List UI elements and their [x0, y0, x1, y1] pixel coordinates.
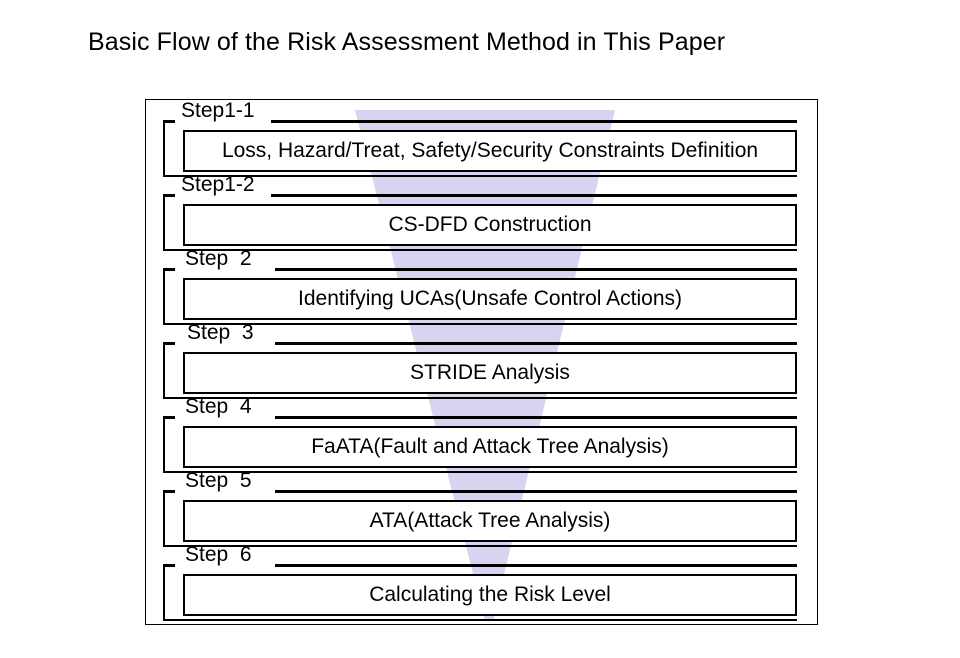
step-content-box[interactable]: Identifying UCAs(Unsafe Control Actions): [183, 278, 797, 320]
step-group-box: Step1-1 Loss, Hazard/Treat, Safety/Secur…: [163, 107, 797, 177]
step-row[interactable]: Step 3 STRIDE Analysis: [163, 329, 797, 399]
group-top-rule-right: [275, 342, 797, 345]
group-bottom-rule: [163, 249, 797, 252]
steps-container: Step1-1 Loss, Hazard/Treat, Safety/Secur…: [145, 99, 818, 625]
step-content-text: STRIDE Analysis: [410, 361, 570, 385]
step-content-box[interactable]: STRIDE Analysis: [183, 352, 797, 394]
step-content-box[interactable]: Calculating the Risk Level: [183, 574, 797, 616]
group-top-rule-right: [275, 490, 797, 493]
group-top-rule-right: [275, 268, 797, 271]
step-content-box[interactable]: Loss, Hazard/Treat, Safety/Security Cons…: [183, 130, 797, 172]
step-content-box[interactable]: FaATA(Fault and Attack Tree Analysis): [183, 426, 797, 468]
group-top-rule-right: [271, 120, 797, 123]
step-row[interactable]: Step 4 FaATA(Fault and Attack Tree Analy…: [163, 403, 797, 473]
step-row[interactable]: Step 2 Identifying UCAs(Unsafe Control A…: [163, 255, 797, 325]
group-bottom-rule: [163, 175, 797, 178]
step-content-text: FaATA(Fault and Attack Tree Analysis): [311, 435, 669, 459]
step-content-text: Loss, Hazard/Treat, Safety/Security Cons…: [222, 139, 758, 163]
group-bottom-rule: [163, 619, 797, 622]
group-left-bracket: [163, 490, 177, 547]
group-left-bracket: [163, 194, 177, 251]
group-left-bracket: [163, 342, 177, 399]
step-content-text: CS-DFD Construction: [388, 213, 591, 237]
step-row[interactable]: Step 6 Calculating the Risk Level: [163, 551, 797, 621]
group-bottom-rule: [163, 545, 797, 548]
step-group-box: Step1-2 CS-DFD Construction: [163, 181, 797, 251]
step-content-box[interactable]: CS-DFD Construction: [183, 204, 797, 246]
group-top-rule-right: [275, 416, 797, 419]
step-label: Step 4: [185, 395, 252, 419]
step-group-box: Step 5 ATA(Attack Tree Analysis): [163, 477, 797, 547]
step-row[interactable]: Step1-2 CS-DFD Construction: [163, 181, 797, 251]
step-label: Step 2: [185, 247, 252, 271]
step-label: Step 6: [185, 543, 252, 567]
group-top-rule-right: [275, 564, 797, 567]
step-group-box: Step 4 FaATA(Fault and Attack Tree Analy…: [163, 403, 797, 473]
group-bottom-rule: [163, 471, 797, 474]
group-top-rule-right: [271, 194, 797, 197]
step-label: Step 5: [185, 469, 252, 493]
step-row[interactable]: Step1-1 Loss, Hazard/Treat, Safety/Secur…: [163, 107, 797, 177]
step-group-box: Step 2 Identifying UCAs(Unsafe Control A…: [163, 255, 797, 325]
step-group-box: Step 6 Calculating the Risk Level: [163, 551, 797, 621]
step-content-text: Calculating the Risk Level: [369, 583, 611, 607]
group-left-bracket: [163, 268, 177, 325]
step-content-box[interactable]: ATA(Attack Tree Analysis): [183, 500, 797, 542]
step-row[interactable]: Step 5 ATA(Attack Tree Analysis): [163, 477, 797, 547]
page-title: Basic Flow of the Risk Assessment Method…: [88, 28, 725, 57]
group-left-bracket: [163, 416, 177, 473]
step-label: Step1-2: [181, 173, 255, 197]
step-content-text: Identifying UCAs(Unsafe Control Actions): [298, 287, 682, 311]
step-group-box: Step 3 STRIDE Analysis: [163, 329, 797, 399]
group-bottom-rule: [163, 323, 797, 326]
group-left-bracket: [163, 120, 177, 177]
step-label: Step 3: [187, 321, 254, 345]
step-label: Step1-1: [181, 99, 255, 123]
step-content-text: ATA(Attack Tree Analysis): [370, 509, 611, 533]
group-left-bracket: [163, 564, 177, 621]
group-bottom-rule: [163, 397, 797, 400]
